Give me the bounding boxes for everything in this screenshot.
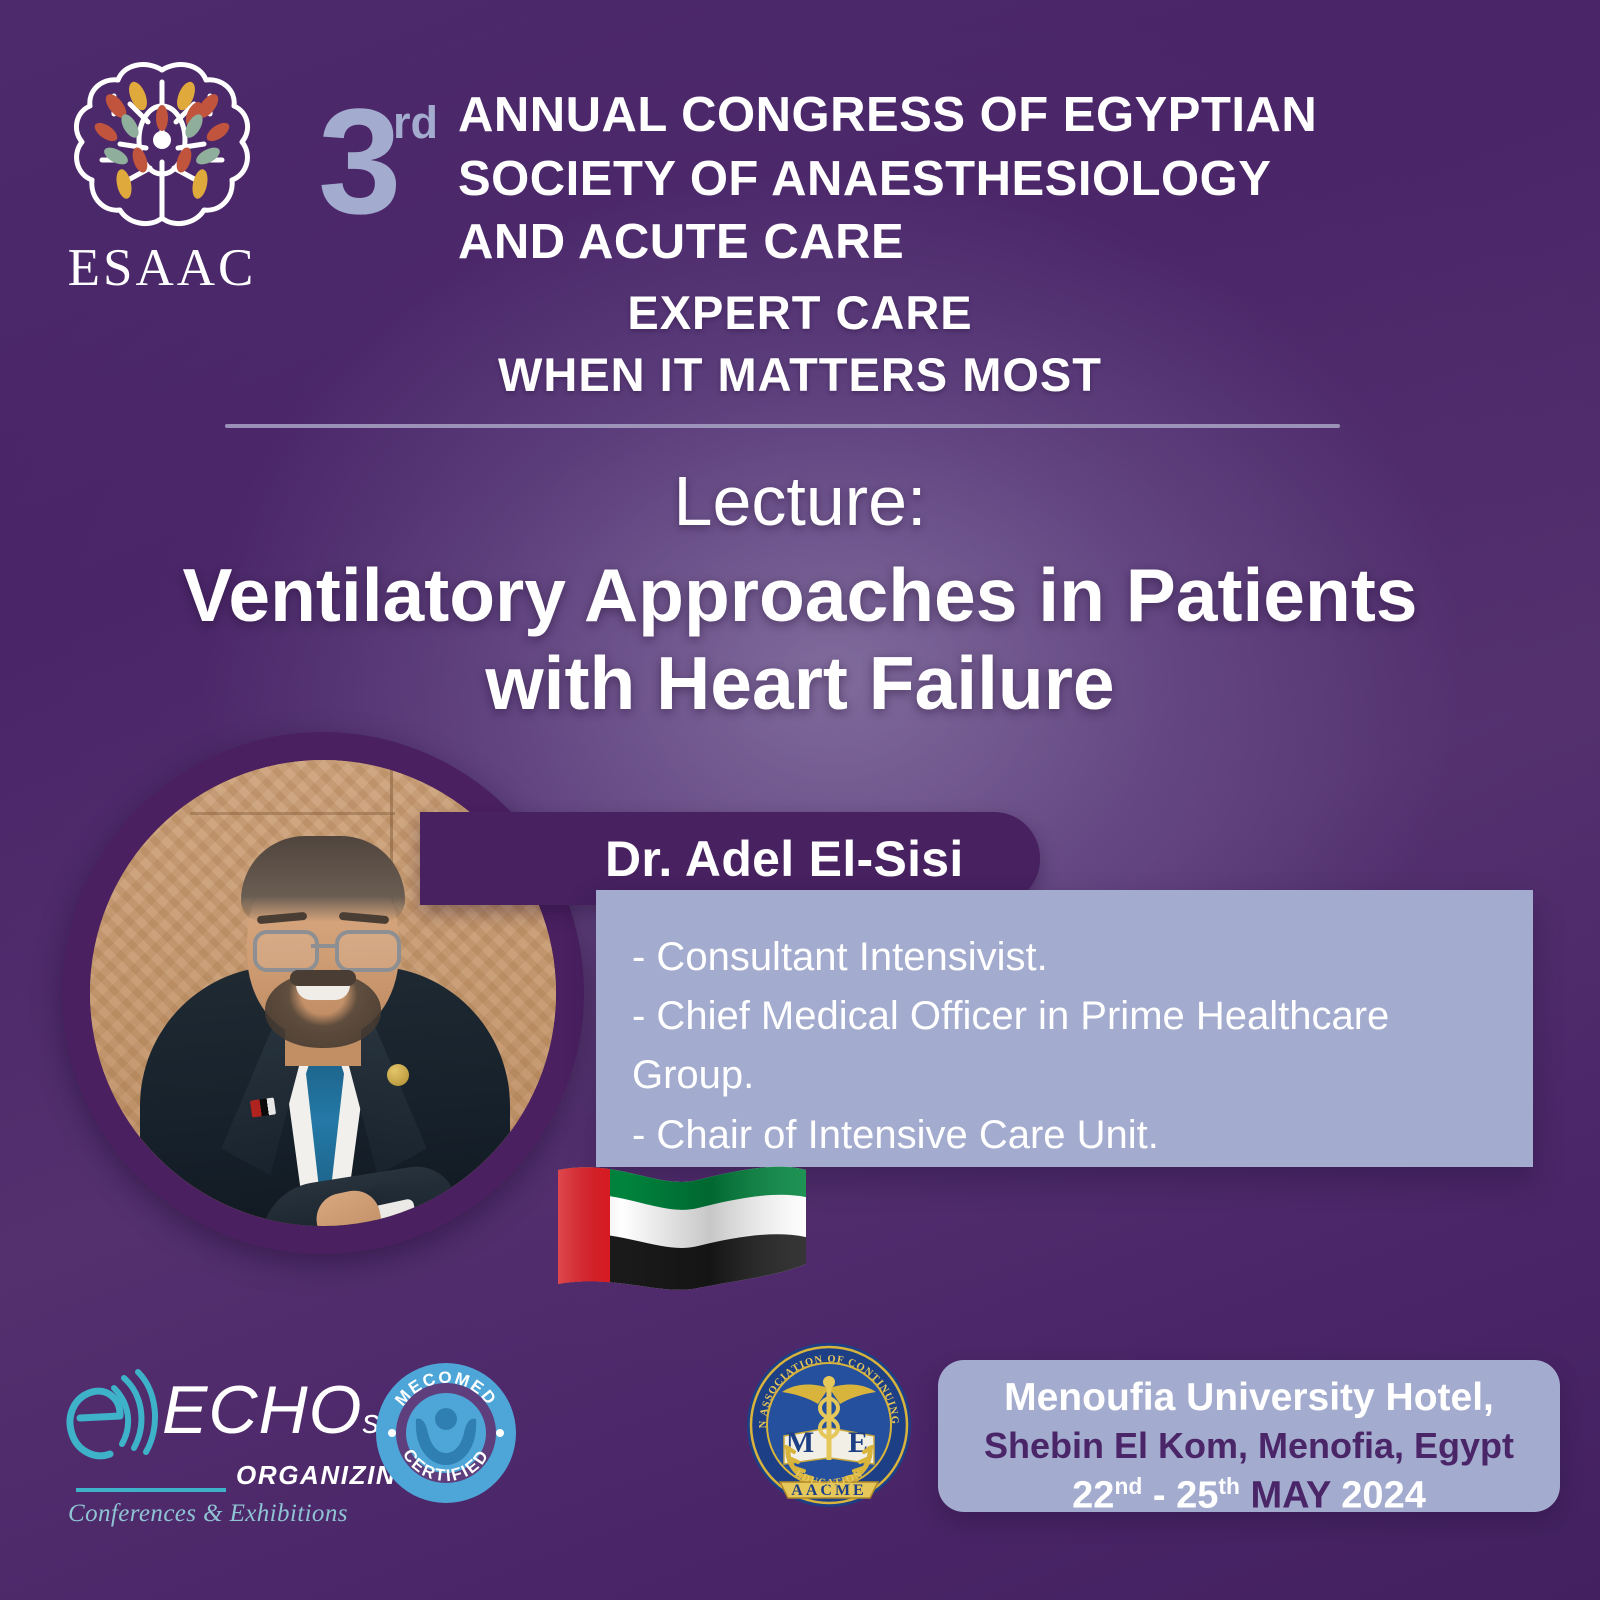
organizer-subtitle: Conferences & Exhibitions [68, 1500, 348, 1528]
congress-line-1: ANNUAL CONGRESS OF EGYPTIAN [458, 84, 1318, 148]
date-start: 22 [1072, 1475, 1114, 1517]
date-month: MAY [1250, 1475, 1330, 1517]
congress-ordinal: 3 rd [318, 92, 448, 262]
organizer-logo: ECHOs ORGANIZING Conferences & Exhibitio… [62, 1360, 382, 1520]
date-separator: - [1153, 1475, 1166, 1517]
speaker-bio-box: - Consultant Intensivist. - Chief Medica… [596, 890, 1533, 1167]
bio-line-3: Group. [632, 1046, 1512, 1105]
lecture-title-line-2: with Heart Failure [60, 640, 1540, 728]
congress-name-lines: ANNUAL CONGRESS OF EGYPTIAN SOCIETY OF A… [458, 84, 1318, 275]
date-start-suffix: nd [1114, 1473, 1142, 1499]
venue-name: Menoufia University Hotel, [938, 1378, 1560, 1417]
congress-line-2: SOCIETY OF ANAESTHESIOLOGY [458, 148, 1318, 212]
lecture-label: Lecture: [0, 466, 1600, 536]
uae-flag-icon [548, 1156, 810, 1306]
tagline-line-2: WHEN IT MATTERS MOST [0, 344, 1600, 406]
venue-info-box: Menoufia University Hotel, Shebin El Kom… [938, 1360, 1560, 1512]
bio-line-1: - Consultant Intensivist. [632, 928, 1512, 987]
speaker-bio-list: - Consultant Intensivist. - Chief Medica… [632, 928, 1512, 1165]
date-year: 2024 [1341, 1475, 1426, 1517]
photo-eyeglass-bridge [311, 944, 335, 948]
bio-line-2: - Chief Medical Officer in Prime Healthc… [632, 987, 1512, 1046]
mecomed-certified-badge-icon: MECOMED CERTIFIED [370, 1357, 522, 1509]
seal-letter-e: E [848, 1426, 868, 1459]
congress-tagline: EXPERT CARE WHEN IT MATTERS MOST [0, 282, 1600, 406]
organizer-name: ECHOs [162, 1376, 380, 1444]
photo-moustache [290, 970, 356, 986]
organizer-rule [76, 1488, 226, 1492]
photo-eyeglass-left [253, 930, 319, 972]
photo-flag-pin [250, 1097, 276, 1117]
aacme-accreditation-seal-icon: M E AACME AMERICAN ASSOCIATION OF CONTIN… [744, 1340, 914, 1510]
photo-eyeglass-right [335, 930, 401, 972]
congress-line-3: AND ACUTE CARE [458, 211, 1318, 275]
photo-mouth [296, 985, 350, 1000]
esaac-brain-logo-icon [62, 52, 262, 242]
photo-wall-seam-horizontal [190, 812, 395, 815]
ordinal-suffix: rd [393, 100, 438, 145]
speaker-photo-frame [62, 732, 584, 1254]
speaker-name: Dr. Adel El-Sisi [605, 834, 964, 884]
esaac-logo: ESAAC [62, 52, 262, 292]
header-divider [225, 424, 1340, 428]
tagline-line-1: EXPERT CARE [0, 282, 1600, 344]
echos-swirl-mark-icon [62, 1366, 172, 1476]
venue-dates: 22nd - 25th MAY 2024 [938, 1475, 1560, 1515]
date-end: 25 [1176, 1475, 1218, 1517]
lecture-title-line-1: Ventilatory Approaches in Patients [60, 552, 1540, 640]
ordinal-number: 3 [318, 92, 397, 230]
photo-lapel-badge [387, 1064, 409, 1086]
conference-announcement-poster: ESAAC 3 rd ANNUAL CONGRESS OF EGYPTIAN S… [0, 0, 1600, 1600]
date-end-suffix: th [1218, 1473, 1240, 1499]
venue-city: Shebin El Kom, Menofia, Egypt [938, 1428, 1560, 1464]
photo-hair [241, 836, 405, 922]
lecture-title: Ventilatory Approaches in Patients with … [60, 552, 1540, 728]
